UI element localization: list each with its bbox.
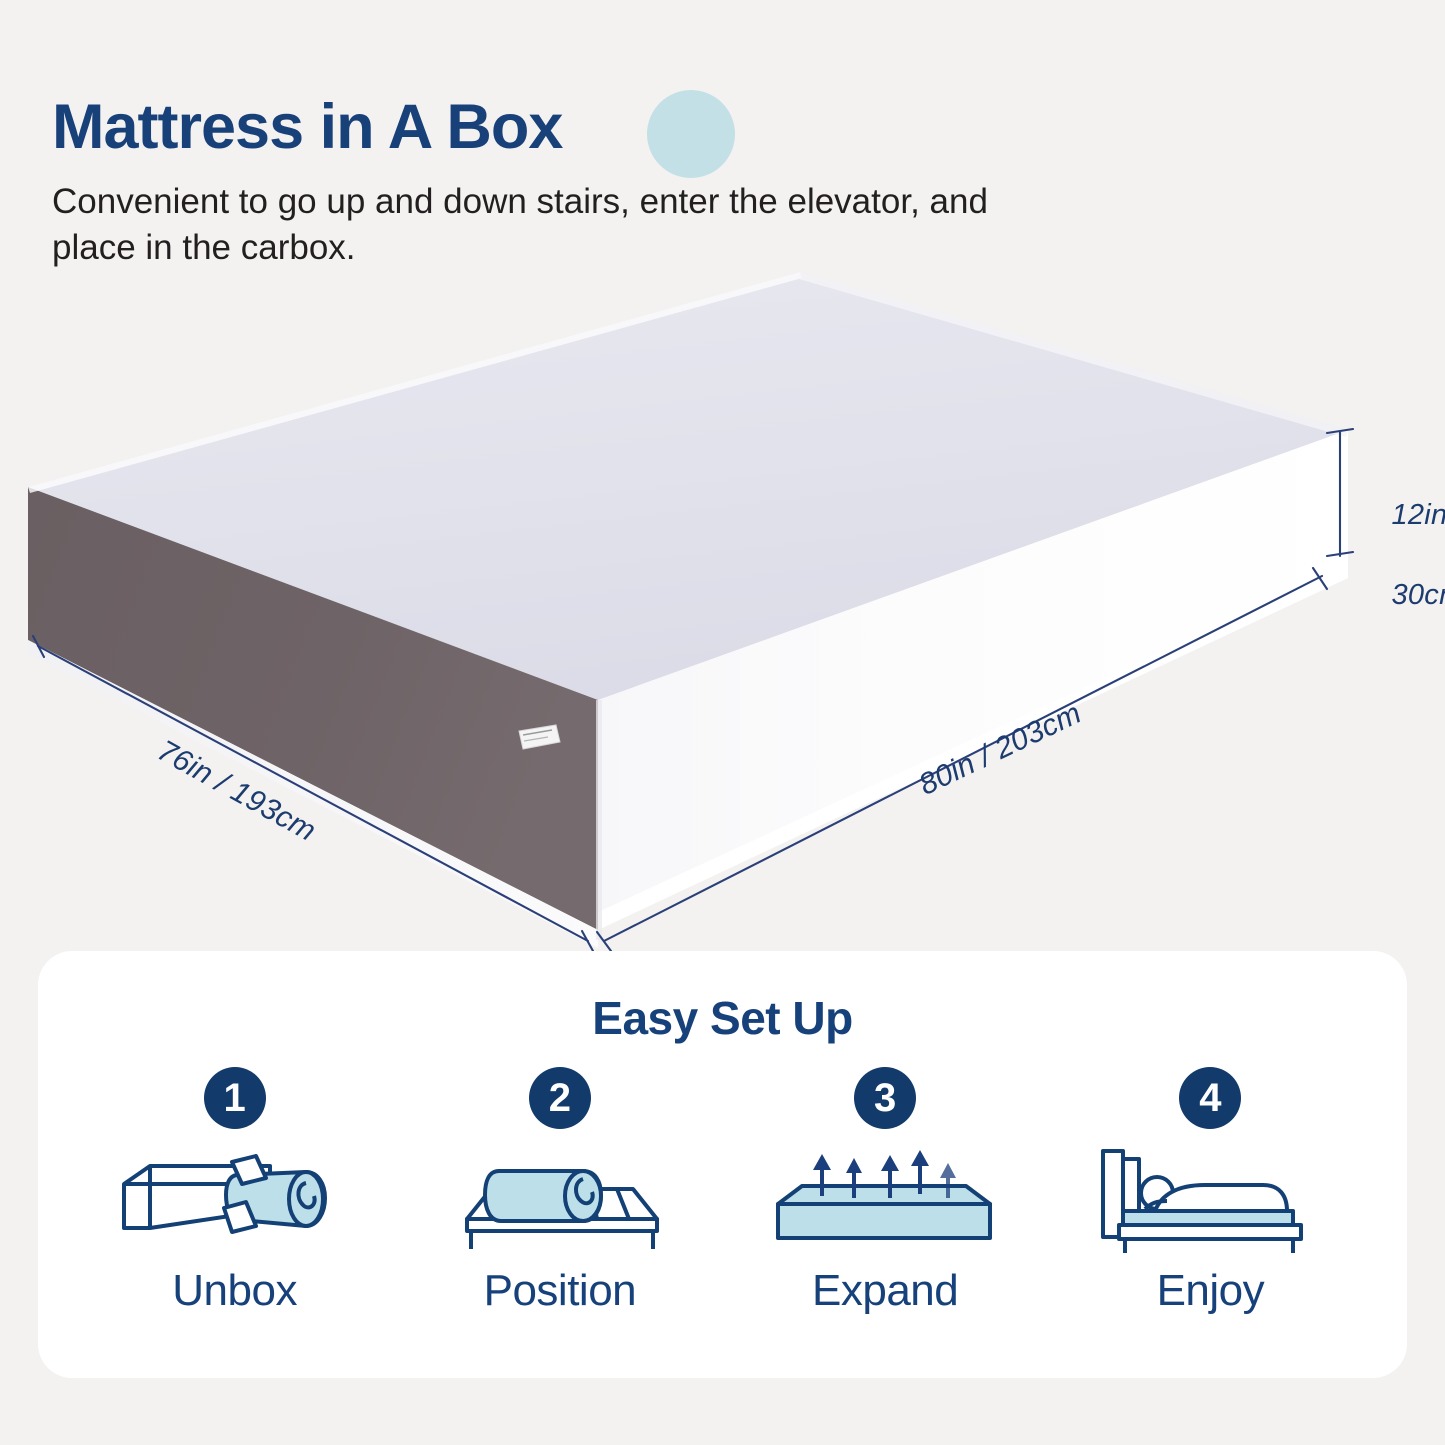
step-label-4: Enjoy [1157,1269,1265,1313]
step-label-2: Position [484,1269,637,1313]
setup-step-unbox: 1 [85,1067,385,1313]
mattress-corner-seam [596,700,602,940]
step-number-badge-3: 3 [854,1067,916,1129]
unbox-art [120,1143,350,1255]
product-infographic-page: Mattress in A Box Convenient to go up an… [0,0,1445,1445]
setup-title: Easy Set Up [38,951,1407,1045]
setup-step-expand: 3 [735,1067,1035,1313]
setup-step-enjoy: 4 [1060,1067,1360,1313]
step-label-1: Unbox [172,1269,297,1313]
position-art [445,1143,675,1255]
page-subtitle: Convenient to go up and down stairs, ent… [52,179,1062,271]
dimension-height-line-2: 30cm [1391,579,1445,611]
title-wrapper: Mattress in A Box [52,96,562,159]
page-title: Mattress in A Box [52,96,562,159]
setup-step-position: 2 [410,1067,710,1313]
header: Mattress in A Box Convenient to go up an… [52,96,1152,271]
person-sleeping-in-bed-icon [1095,1145,1325,1255]
title-accent-circle [647,90,735,178]
step-label-3: Expand [812,1269,958,1313]
dimension-label-height: 12in / 30cm [1358,455,1445,655]
rolled-mattress-on-bedframe-icon [445,1147,675,1255]
setup-steps-row: 1 [38,1067,1407,1313]
mattress-expanding-arrows-icon [770,1150,1000,1255]
expand-art [770,1143,1000,1255]
step-number-badge-2: 2 [529,1067,591,1129]
step-number-badge-4: 4 [1179,1067,1241,1129]
dimension-height-line-1: 12in / [1391,499,1445,531]
step-number-badge-1: 1 [204,1067,266,1129]
box-with-rolled-mattress-icon [120,1150,350,1255]
enjoy-art [1095,1143,1325,1255]
easy-set-up-card: Easy Set Up 1 [38,951,1407,1378]
